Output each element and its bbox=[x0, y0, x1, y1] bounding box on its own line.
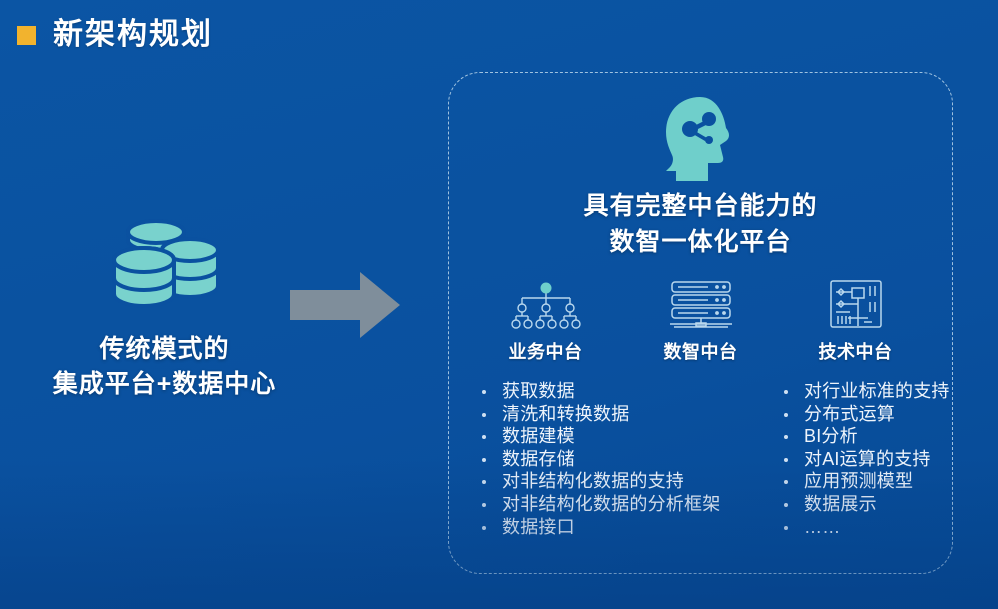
pillars-row: 业务中台 bbox=[449, 278, 952, 364]
capabilities-column-left: 获取数据 清洗和转换数据 数据建模 数据存储 对非结构化数据的支持 对非结构化数… bbox=[469, 380, 761, 538]
pillar-technology-platform[interactable]: 技术中台 bbox=[797, 278, 915, 364]
list-item: 清洗和转换数据 bbox=[469, 403, 761, 426]
list-item: 应用预测模型 bbox=[771, 470, 961, 493]
pillar-label: 技术中台 bbox=[797, 338, 915, 364]
pillar-icon-wrap bbox=[487, 278, 605, 330]
list-item: 对行业标准的支持 bbox=[771, 380, 961, 403]
page-title-text: 新架构规划 bbox=[53, 20, 213, 50]
capability-list-right: 对行业标准的支持 分布式运算 BI分析 对AI运算的支持 应用预测模型 数据展示… bbox=[771, 380, 961, 538]
capabilities-column-right: 对行业标准的支持 分布式运算 BI分析 对AI运算的支持 应用预测模型 数据展示… bbox=[771, 380, 961, 538]
legacy-platform-block: 传统模式的 集成平台+数据中心 bbox=[22, 210, 307, 401]
list-item: 对非结构化数据的分析框架 bbox=[469, 493, 761, 516]
database-stack-icon bbox=[110, 210, 220, 310]
panel-title-line-2: 数智一体化平台 bbox=[449, 225, 952, 261]
right-arrow-icon bbox=[290, 272, 400, 338]
capability-list-left: 获取数据 清洗和转换数据 数据建模 数据存储 对非结构化数据的支持 对非结构化数… bbox=[469, 380, 761, 538]
list-item: 数据接口 bbox=[469, 516, 761, 539]
capabilities-columns: 获取数据 清洗和转换数据 数据建模 数据存储 对非结构化数据的支持 对非结构化数… bbox=[449, 380, 952, 538]
list-item: 数据存储 bbox=[469, 448, 761, 471]
circuit-board-icon bbox=[828, 278, 884, 330]
pillar-data-platform[interactable]: 数智中台 bbox=[642, 278, 760, 364]
panel-title-line-1: 具有完整中台能力的 bbox=[449, 189, 952, 225]
list-item: BI分析 bbox=[771, 425, 961, 448]
pillar-label: 业务中台 bbox=[487, 338, 605, 364]
new-architecture-panel: 具有完整中台能力的 数智一体化平台 bbox=[448, 72, 953, 574]
panel-title: 具有完整中台能力的 数智一体化平台 bbox=[449, 189, 952, 260]
list-item: 数据展示 bbox=[771, 493, 961, 516]
ai-head-network-icon bbox=[662, 95, 740, 183]
list-item: 获取数据 bbox=[469, 380, 761, 403]
list-item: …… bbox=[771, 516, 961, 539]
pillar-icon-wrap bbox=[797, 278, 915, 330]
list-item: 分布式运算 bbox=[771, 403, 961, 426]
page-title: 新架构规划 bbox=[17, 20, 213, 50]
pillar-icon-wrap bbox=[642, 278, 760, 330]
legacy-caption-line-1: 传统模式的 bbox=[22, 332, 307, 367]
legacy-caption-line-2: 集成平台+数据中心 bbox=[22, 367, 307, 402]
legacy-platform-caption: 传统模式的 集成平台+数据中心 bbox=[22, 332, 307, 401]
pillar-label: 数智中台 bbox=[642, 338, 760, 364]
title-bullet-square-icon bbox=[17, 26, 36, 45]
slide-canvas: 新架构规划 传统模式的 集成平台+数据中心 bbox=[0, 0, 998, 609]
list-item: 对AI运算的支持 bbox=[771, 448, 961, 471]
panel-header: 具有完整中台能力的 数智一体化平台 bbox=[449, 95, 952, 260]
pillar-business-platform[interactable]: 业务中台 bbox=[487, 278, 605, 364]
server-rack-icon bbox=[664, 280, 738, 330]
org-tree-icon bbox=[509, 282, 583, 330]
list-item: 对非结构化数据的支持 bbox=[469, 470, 761, 493]
list-item: 数据建模 bbox=[469, 425, 761, 448]
